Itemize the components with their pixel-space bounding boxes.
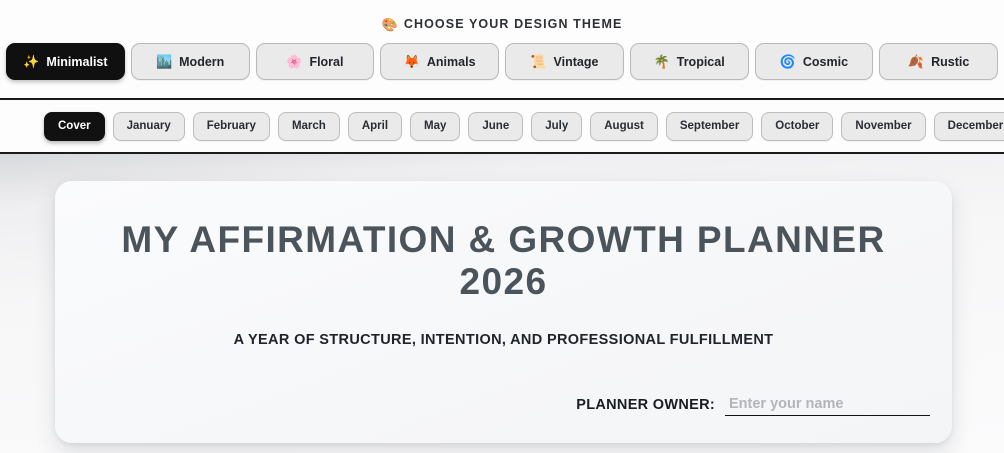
tab-label: September (680, 120, 739, 132)
theme-button-tropical[interactable]: 🌴 Tropical (630, 43, 749, 80)
tab-label: August (604, 120, 644, 132)
theme-button-vintage[interactable]: 📜 Vintage (505, 43, 624, 80)
theme-button-animals[interactable]: 🦊 Animals (380, 43, 499, 80)
palette-icon: 🎨 (382, 17, 399, 32)
theme-selector-heading: 🎨CHOOSE YOUR DESIGN THEME (0, 14, 1004, 34)
cherry-blossom-icon: 🌸 (286, 55, 302, 68)
theme-button-cosmic[interactable]: 🌀 Cosmic (755, 43, 874, 80)
tab-april[interactable]: April (348, 112, 402, 141)
tab-august[interactable]: August (590, 112, 658, 141)
theme-button-minimalist[interactable]: ✨ Minimalist (6, 43, 125, 80)
theme-button-rustic[interactable]: 🍂 Rustic (879, 43, 998, 80)
planner-cover-card: MY AFFIRMATION & GROWTH PLANNER 2026 A Y… (55, 181, 952, 443)
theme-button-label: Cosmic (803, 55, 848, 69)
tab-october[interactable]: October (761, 112, 833, 141)
tab-january[interactable]: January (113, 112, 185, 141)
tab-label: November (855, 120, 911, 132)
theme-button-modern[interactable]: 🏙️ Modern (131, 43, 250, 80)
cityscape-icon: 🏙️ (156, 55, 172, 68)
theme-button-label: Animals (427, 55, 476, 69)
theme-button-label: Floral (309, 55, 343, 69)
theme-button-floral[interactable]: 🌸 Floral (256, 43, 375, 80)
tab-label: June (482, 120, 509, 132)
theme-button-label: Rustic (931, 55, 969, 69)
theme-selector-heading-label: CHOOSE YOUR DESIGN THEME (404, 17, 623, 31)
planner-title: MY AFFIRMATION & GROWTH PLANNER 2026 (95, 219, 912, 303)
fox-icon: 🦊 (404, 55, 420, 68)
tab-label: February (207, 120, 256, 132)
tab-september[interactable]: September (666, 112, 753, 141)
tab-label: April (362, 120, 388, 132)
cyclone-icon: 🌀 (780, 55, 796, 68)
tab-label: May (424, 120, 446, 132)
tab-label: Cover (58, 120, 91, 132)
scroll-icon: 📜 (530, 55, 546, 68)
tab-february[interactable]: February (193, 112, 270, 141)
tab-march[interactable]: March (278, 112, 340, 141)
fallen-leaf-icon: 🍂 (908, 55, 924, 68)
tab-may[interactable]: May (410, 112, 460, 141)
tab-june[interactable]: June (468, 112, 523, 141)
planner-owner-input[interactable] (725, 396, 930, 416)
tab-label: January (127, 120, 171, 132)
planner-canvas: MY AFFIRMATION & GROWTH PLANNER 2026 A Y… (0, 154, 1004, 453)
tab-label: December (948, 120, 1004, 132)
tab-november[interactable]: November (841, 112, 925, 141)
planner-owner-label: PLANNER OWNER: (576, 397, 715, 416)
palm-tree-icon: 🌴 (654, 55, 670, 68)
tab-december[interactable]: December (934, 112, 1004, 141)
theme-button-label: Tropical (677, 55, 725, 69)
tab-label: July (545, 120, 568, 132)
sparkles-icon: ✨ (23, 55, 39, 68)
theme-selector-bar: 🎨CHOOSE YOUR DESIGN THEME ✨ Minimalist 🏙… (0, 0, 1004, 100)
month-tab-bar: Cover January February March April May J… (0, 100, 1004, 154)
planner-subtitle: A YEAR OF STRUCTURE, INTENTION, AND PROF… (95, 332, 912, 348)
tab-july[interactable]: July (531, 112, 582, 141)
tab-label: October (775, 120, 819, 132)
planner-app: 🎨CHOOSE YOUR DESIGN THEME ✨ Minimalist 🏙… (0, 0, 1004, 453)
theme-button-label: Minimalist (46, 55, 107, 69)
theme-button-label: Modern (179, 55, 224, 69)
tab-label: March (292, 120, 326, 132)
tab-cover[interactable]: Cover (44, 112, 105, 141)
theme-button-row: ✨ Minimalist 🏙️ Modern 🌸 Floral 🦊 Animal… (0, 43, 1004, 80)
theme-button-label: Vintage (554, 55, 599, 69)
planner-owner-row: PLANNER OWNER: (576, 396, 930, 416)
